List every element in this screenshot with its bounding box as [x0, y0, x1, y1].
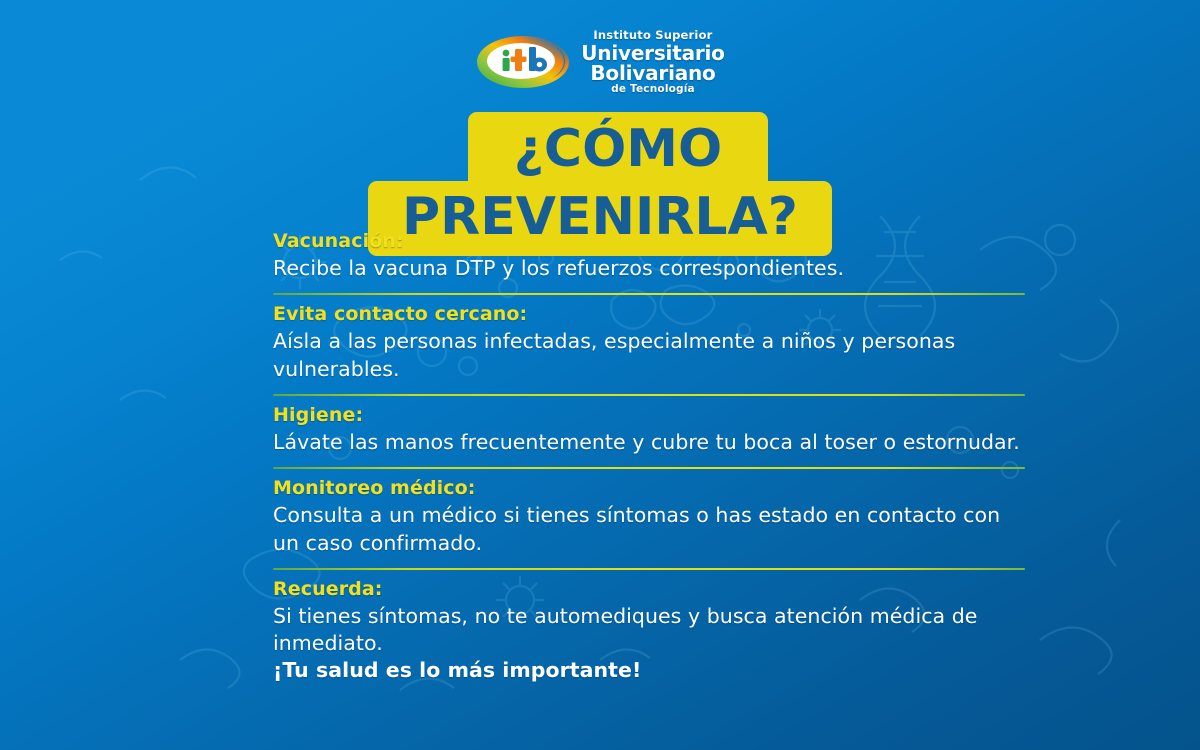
list-item: Recuerda: Si tienes síntomas, no te auto… — [273, 570, 1025, 685]
item-body-text: Recibe la vacuna DTP y los refuerzos cor… — [273, 256, 844, 280]
item-body-text: Consulta a un médico si tienes síntomas … — [273, 503, 1000, 554]
list-item: Higiene: Lávate las manos frecuentemente… — [273, 396, 1025, 469]
item-body-emphasis: ¡Tu salud es lo más importante! — [273, 657, 1025, 684]
logo-line-de-tecnologia: de Tecnología — [611, 84, 695, 95]
item-body: Aísla a las personas infectadas, especia… — [273, 328, 1025, 383]
item-body: Recibe la vacuna DTP y los refuerzos cor… — [273, 255, 1025, 282]
institution-logo-row: Instituto Superior Universitario Bolivar… — [0, 30, 1200, 95]
title-line-1: ¿CÓMO — [468, 112, 768, 183]
item-body: Lávate las manos frecuentemente y cubre … — [273, 429, 1025, 456]
institution-name: Instituto Superior Universitario Bolivar… — [581, 30, 724, 95]
item-body-text: Aísla a las personas infectadas, especia… — [273, 329, 955, 380]
item-body: Si tienes síntomas, no te automediques y… — [273, 603, 1025, 685]
itb-logo-icon — [475, 33, 571, 91]
list-item: Vacunación: Recibe la vacuna DTP y los r… — [273, 222, 1025, 295]
prevention-infographic-poster: Instituto Superior Universitario Bolivar… — [0, 0, 1200, 750]
item-heading: Evita contacto cercano: — [273, 302, 1025, 327]
logo-line-bolivariano: Bolivariano — [590, 63, 715, 83]
item-body-text: Si tienes síntomas, no te automediques y… — [273, 604, 977, 655]
item-heading: Vacunación: — [273, 229, 1025, 254]
item-heading: Monitoreo médico: — [273, 476, 1025, 501]
item-body-text: Lávate las manos frecuentemente y cubre … — [273, 430, 1020, 454]
item-heading: Higiene: — [273, 403, 1025, 428]
list-item: Evita contacto cercano: Aísla a las pers… — [273, 295, 1025, 396]
item-body: Consulta a un médico si tienes síntomas … — [273, 502, 1025, 557]
item-heading: Recuerda: — [273, 577, 1025, 602]
prevention-items-list: Vacunación: Recibe la vacuna DTP y los r… — [273, 222, 1025, 685]
list-item: Monitoreo médico: Consulta a un médico s… — [273, 469, 1025, 570]
logo-line-universitario: Universitario — [581, 43, 724, 63]
logo-line-instituto-superior: Instituto Superior — [593, 30, 712, 42]
